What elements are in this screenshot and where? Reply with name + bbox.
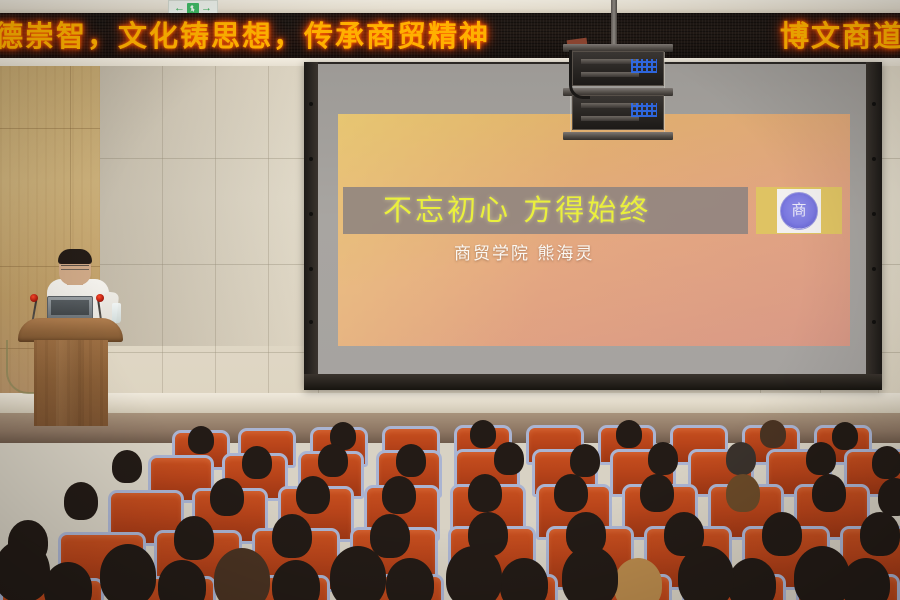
audience-head xyxy=(396,444,426,477)
microphone-right-head xyxy=(96,294,104,302)
lectern-top xyxy=(18,318,123,342)
audience-head xyxy=(806,442,836,475)
audience-head xyxy=(382,476,416,514)
audience-head xyxy=(726,442,756,475)
led-banner-right-text: 博文商道 xyxy=(780,16,900,56)
audience-seating xyxy=(0,420,900,600)
microphone-cable xyxy=(6,340,34,394)
audience-head xyxy=(100,544,156,600)
audience-head xyxy=(494,442,524,475)
audience-head xyxy=(762,512,802,556)
audience-head xyxy=(370,514,410,558)
audience-head xyxy=(174,516,214,560)
audience-head xyxy=(878,478,900,516)
logo-card: 商 xyxy=(777,189,821,233)
seal-ring-icon xyxy=(782,194,816,228)
slide-subtitle: 商贸学院 熊海灵 xyxy=(454,246,594,263)
audience-head xyxy=(500,558,548,600)
projected-slide: 不忘初心 方得始终 商 商贸学院 熊海灵 xyxy=(338,114,850,346)
presenter-hair xyxy=(58,249,92,264)
audience-head xyxy=(648,442,678,475)
slide-title-band: 不忘初心 方得始终 xyxy=(343,187,748,234)
audience-head xyxy=(272,514,312,558)
led-banner: 德崇智，文化铸思想，传承商贸精神 博文商道 xyxy=(0,13,900,59)
audience-head xyxy=(860,512,900,556)
audience-head xyxy=(726,474,760,512)
audience-head xyxy=(872,446,900,479)
screen-left-border xyxy=(304,62,318,390)
auditorium-photo: ← → 德崇智，文化铸思想，传承商贸精神 博文商道 xyxy=(0,0,900,600)
audience-head xyxy=(640,474,674,512)
audience-head xyxy=(554,474,588,512)
audience-head xyxy=(64,482,98,520)
audience-head xyxy=(832,422,858,450)
audience-head xyxy=(446,546,502,600)
audience-head xyxy=(468,474,502,512)
audience-head xyxy=(330,546,386,600)
stage-front-wall xyxy=(0,393,900,415)
rack-support-pole xyxy=(611,0,617,48)
microphone-left-head xyxy=(30,294,38,302)
audience-head xyxy=(470,420,496,448)
ceiling-mounted-speaker-rack xyxy=(563,44,673,140)
audience-head xyxy=(296,476,330,514)
university-seal-logo: 商 xyxy=(780,192,818,230)
slide-logo-block: 商 xyxy=(756,187,842,234)
audience-head xyxy=(678,546,734,600)
audience-head xyxy=(616,420,642,448)
lectern-body xyxy=(34,340,108,426)
screen-bottom-border xyxy=(304,374,882,390)
audience-head xyxy=(562,546,618,600)
audience-head xyxy=(570,444,600,477)
audience-head xyxy=(794,546,850,600)
audience-head xyxy=(188,426,214,454)
rack-cable xyxy=(569,50,590,99)
rack-led-indicator-2 xyxy=(631,103,657,117)
presenter-glasses xyxy=(61,265,89,270)
audience-head xyxy=(318,444,348,477)
screen-right-border xyxy=(866,62,882,390)
rack-led-indicator xyxy=(631,59,657,73)
audience-head xyxy=(112,450,142,483)
audience-head xyxy=(0,540,50,600)
audience-head xyxy=(210,478,244,516)
slide-title: 不忘初心 方得始终 xyxy=(383,196,651,225)
led-banner-left-text: 德崇智，文化铸思想，传承商贸精神 xyxy=(0,16,490,56)
audience-head xyxy=(760,420,786,448)
audience-head xyxy=(242,446,272,479)
audience-head xyxy=(812,474,846,512)
ceiling xyxy=(0,0,900,14)
